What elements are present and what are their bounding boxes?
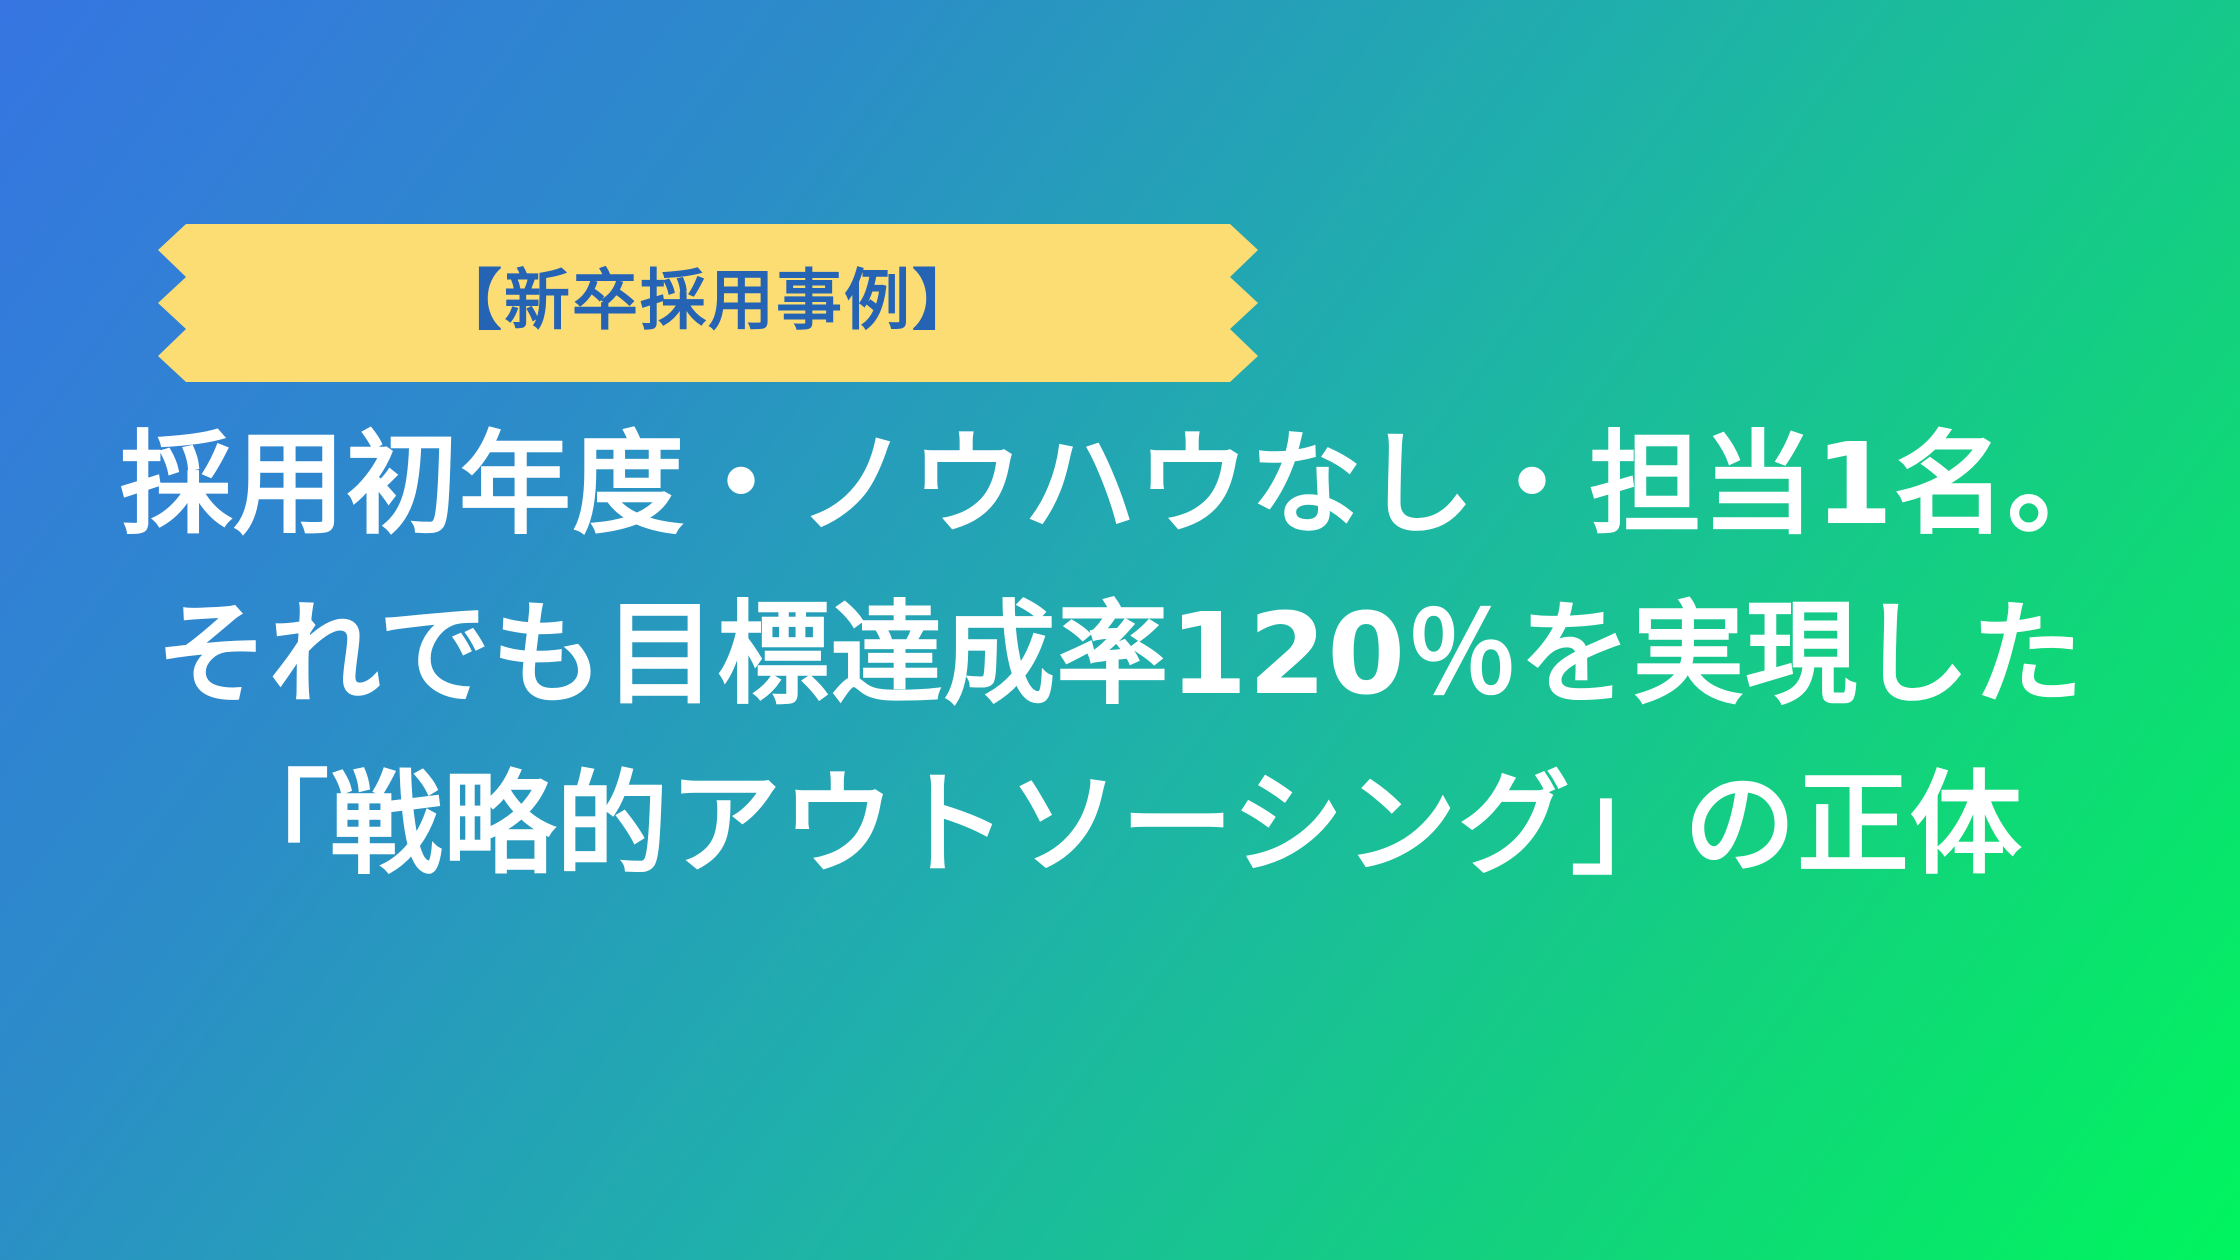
headline-line-1: 採用初年度・ノウハウなし・担当1名。 <box>0 400 2240 570</box>
banner-canvas: 【新卒採用事例】 採用初年度・ノウハウなし・担当1名。 それでも目標達成率120… <box>0 0 2240 1260</box>
badge-label: 【新卒採用事例】 <box>158 224 1258 382</box>
headline-line-2: それでも目標達成率120％を実現した <box>0 570 2240 740</box>
headline-line-3: 「戦略的アウトソーシング」の正体 <box>0 740 2240 910</box>
badge-ribbon: 【新卒採用事例】 <box>158 224 1258 382</box>
headline: 採用初年度・ノウハウなし・担当1名。 それでも目標達成率120％を実現した 「戦… <box>0 400 2240 911</box>
